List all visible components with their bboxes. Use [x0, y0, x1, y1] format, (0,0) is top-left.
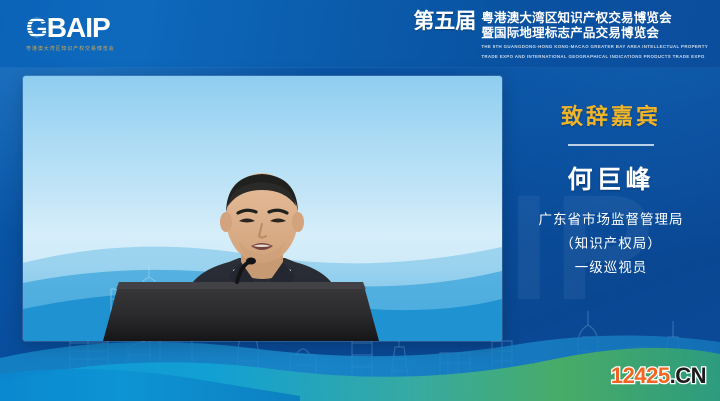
watermark-number: 12425 — [611, 365, 670, 387]
panel-title-guest-speaker: 致辞嘉宾 — [508, 104, 714, 130]
site-watermark: 12425.CN — [611, 365, 706, 387]
panel-divider — [568, 144, 654, 146]
speaker-org-line-1: 广东省市场监督管理局 — [508, 212, 714, 228]
gbaip-logo-letters-baip: BAIP — [47, 14, 110, 42]
speaker-person — [23, 76, 502, 341]
speaker-org-line-2: （知识产权局） — [508, 236, 714, 252]
expo-title-cn-line2: 暨国际地理标志产品交易博览会 — [481, 26, 708, 40]
expo-title-cn-line1: 粤港澳大湾区知识产权交易博览会 — [481, 11, 708, 25]
watermark-tld: CN — [675, 365, 706, 387]
gbaip-logo: GBAIP 粤港澳大湾区知识产权交易博览会 — [26, 14, 115, 52]
expo-title-en-line1: THE 5TH GUANGDONG-HONG KONG-MACAO GREATE… — [481, 44, 708, 50]
gbaip-logo-subtitle: 粤港澳大湾区知识产权交易博览会 — [26, 45, 115, 52]
expo-edition-label: 第五届 — [413, 10, 476, 33]
video-player-frame[interactable] — [23, 76, 502, 341]
gbaip-logo-letter-g: G — [26, 14, 47, 42]
expo-title-lines: 粤港澳大湾区知识产权交易博览会 暨国际地理标志产品交易博览会 THE 5TH G… — [481, 10, 708, 60]
gbaip-logo-wordmark: GBAIP — [26, 14, 115, 42]
expo-title-en-line2: TRADE EXPO AND INTERNATIONAL GEOGRAPHICA… — [481, 54, 708, 60]
speaker-organization: 广东省市场监督管理局 （知识产权局） 一级巡视员 — [508, 212, 714, 276]
speaker-org-line-3: 一级巡视员 — [508, 260, 714, 276]
livestream-stage: IP — [0, 0, 720, 401]
speaker-info-panel: 致辞嘉宾 何巨峰 广东省市场监督管理局 （知识产权局） 一级巡视员 — [508, 104, 714, 276]
speaker-name: 何巨峰 — [508, 165, 714, 195]
expo-title-block: 第五届 粤港澳大湾区知识产权交易博览会 暨国际地理标志产品交易博览会 THE 5… — [413, 10, 708, 60]
